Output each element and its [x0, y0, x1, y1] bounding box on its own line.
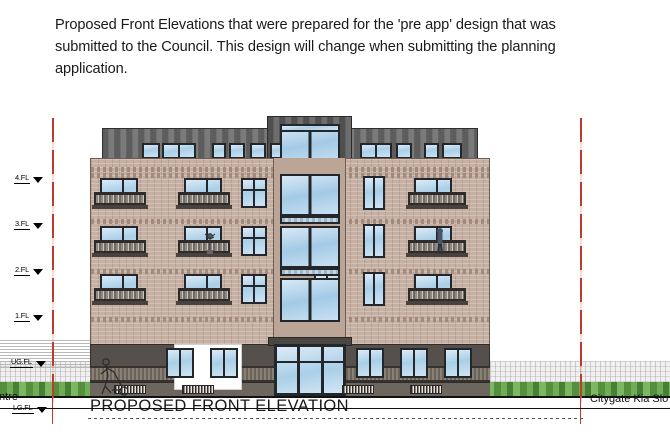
ground-floor-window: [400, 348, 428, 378]
facade-window: [241, 178, 267, 208]
level-label: 2.FL: [14, 265, 30, 276]
balcony-plant: [202, 228, 218, 254]
title-boundary-left: [52, 389, 53, 424]
ground-floor-window: [444, 348, 472, 378]
level-triangle-icon: [36, 361, 46, 367]
balcony-railing: [94, 240, 146, 254]
roof-window: [212, 143, 226, 159]
level-label: 4.FL: [14, 173, 30, 184]
elevation-drawing: 4.FL 3.FL 2.FL 1.FL UG.FL LG.FL ntre Cit…: [0, 108, 670, 441]
level-triangle-icon: [33, 315, 43, 321]
facade-window: [241, 274, 267, 304]
tower-spandrel: [280, 216, 340, 224]
site-boundary-line-right: [580, 118, 582, 403]
tower-spandrel: [280, 268, 340, 276]
title-underline: [88, 418, 583, 419]
level-triangle-icon: [33, 269, 43, 275]
facade-tall-window: [363, 176, 385, 210]
facade-tall-window: [363, 272, 385, 306]
building-elevation: [84, 108, 496, 398]
level-marker-4fl: 4.FL: [14, 170, 43, 184]
main-entrance-doors: [274, 344, 346, 396]
level-label: UG.FL: [10, 357, 33, 368]
balcony-railing: [408, 192, 466, 206]
level-triangle-icon: [33, 177, 43, 183]
balcony-railing: [94, 192, 146, 206]
balcony-railing: [94, 288, 146, 302]
roof-window: [162, 143, 196, 159]
tower-glazing: [280, 174, 340, 216]
tower-glazing: [280, 278, 340, 322]
ground-floor-window: [166, 348, 194, 378]
balcony-slab: [176, 301, 232, 305]
balcony-slab: [92, 253, 148, 257]
roof-window: [250, 143, 266, 159]
level-marker-1fl: 1.FL: [14, 308, 43, 322]
site-boundary-line-left: [52, 118, 54, 403]
balcony-slab: [92, 205, 148, 209]
tower-glazing: [280, 226, 340, 268]
roof-window: [424, 143, 439, 159]
facade-tall-window: [363, 224, 385, 258]
drawing-title: PROPOSED FRONT ELEVATION: [90, 397, 349, 416]
balcony-railing: [408, 288, 466, 302]
caption-text: Proposed Front Elevations that were prep…: [55, 14, 595, 81]
roof-window: [229, 143, 245, 159]
level-label: 3.FL: [14, 219, 30, 230]
right-context-label: Citygate Kia Slo: [590, 393, 668, 405]
balcony-slab: [406, 205, 468, 209]
roof-centre-transom: [280, 124, 340, 132]
balcony-slab: [406, 301, 468, 305]
lower-ground-line: [0, 408, 670, 409]
balcony-slab: [92, 301, 148, 305]
level-marker-ugfl: UG.FL: [10, 354, 46, 368]
roof-window: [360, 143, 392, 159]
balcony-railing: [178, 288, 230, 302]
level-label: 1.FL: [14, 311, 30, 322]
roof-window: [142, 143, 160, 159]
balcony-railing: [178, 192, 230, 206]
level-triangle-icon: [33, 223, 43, 229]
roof-window: [396, 143, 412, 159]
roof-window: [442, 143, 462, 159]
cyclist-figure: [98, 356, 132, 396]
ventilation-louvre: [182, 385, 214, 394]
ground-floor-window: [210, 348, 238, 378]
facade-window: [241, 226, 267, 256]
ventilation-louvre: [410, 385, 442, 394]
left-context-label: ntre: [0, 391, 18, 403]
balcony-slab: [176, 205, 232, 209]
level-marker-2fl: 2.FL: [14, 262, 43, 276]
ground-floor-window: [356, 348, 384, 378]
level-marker-3fl: 3.FL: [14, 216, 43, 230]
balcony-person-figure: [434, 227, 446, 255]
ventilation-louvre: [342, 385, 374, 394]
